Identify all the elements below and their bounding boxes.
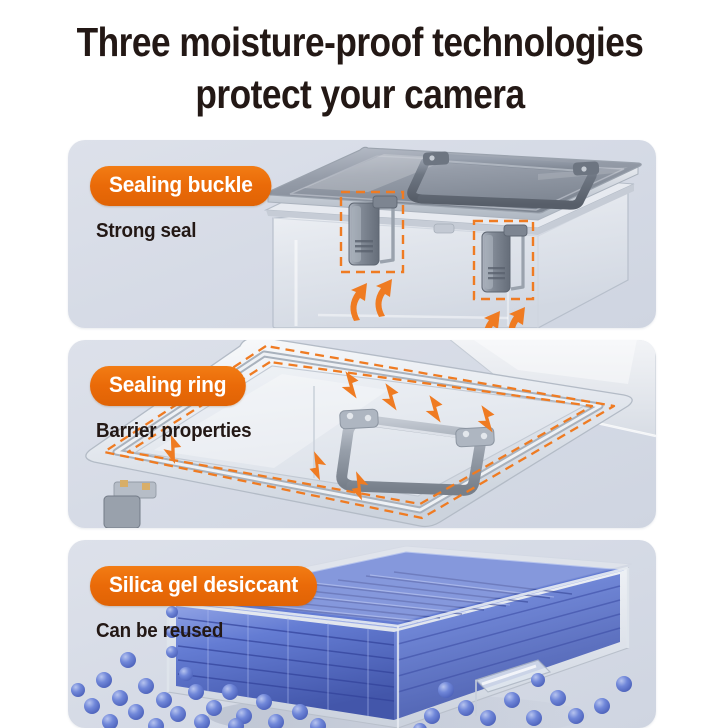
subtext-can-be-reused: Can be reused: [96, 620, 315, 643]
panel-1-text-block: Sealing buckle Strong seal: [90, 166, 281, 243]
page-title: Three moisture-proof technologies protec…: [50, 16, 669, 121]
infographic-root: Three moisture-proof technologies protec…: [0, 0, 720, 720]
panel-2-text-block: Sealing ring Barrier properties: [90, 366, 261, 443]
badge-sealing-buckle: Sealing buckle: [90, 166, 272, 206]
feature-panel-silica-gel-desiccant: Silica gel desiccant Can be reused: [68, 540, 656, 728]
subtext-barrier-properties: Barrier properties: [96, 420, 251, 443]
badge-sealing-ring: Sealing ring: [90, 366, 245, 406]
page-title-line-2: protect your camera: [50, 68, 669, 120]
subtext-strong-seal: Strong seal: [96, 220, 270, 243]
feature-panel-sealing-buckle: Sealing buckle Strong seal: [68, 140, 656, 328]
feature-panel-sealing-ring: Sealing ring Barrier properties: [68, 340, 656, 528]
panel-3-text-block: Silica gel desiccant Can be reused: [90, 566, 329, 643]
badge-silica-gel-desiccant: Silica gel desiccant: [90, 566, 317, 606]
page-title-line-1: Three moisture-proof technologies: [77, 19, 644, 65]
